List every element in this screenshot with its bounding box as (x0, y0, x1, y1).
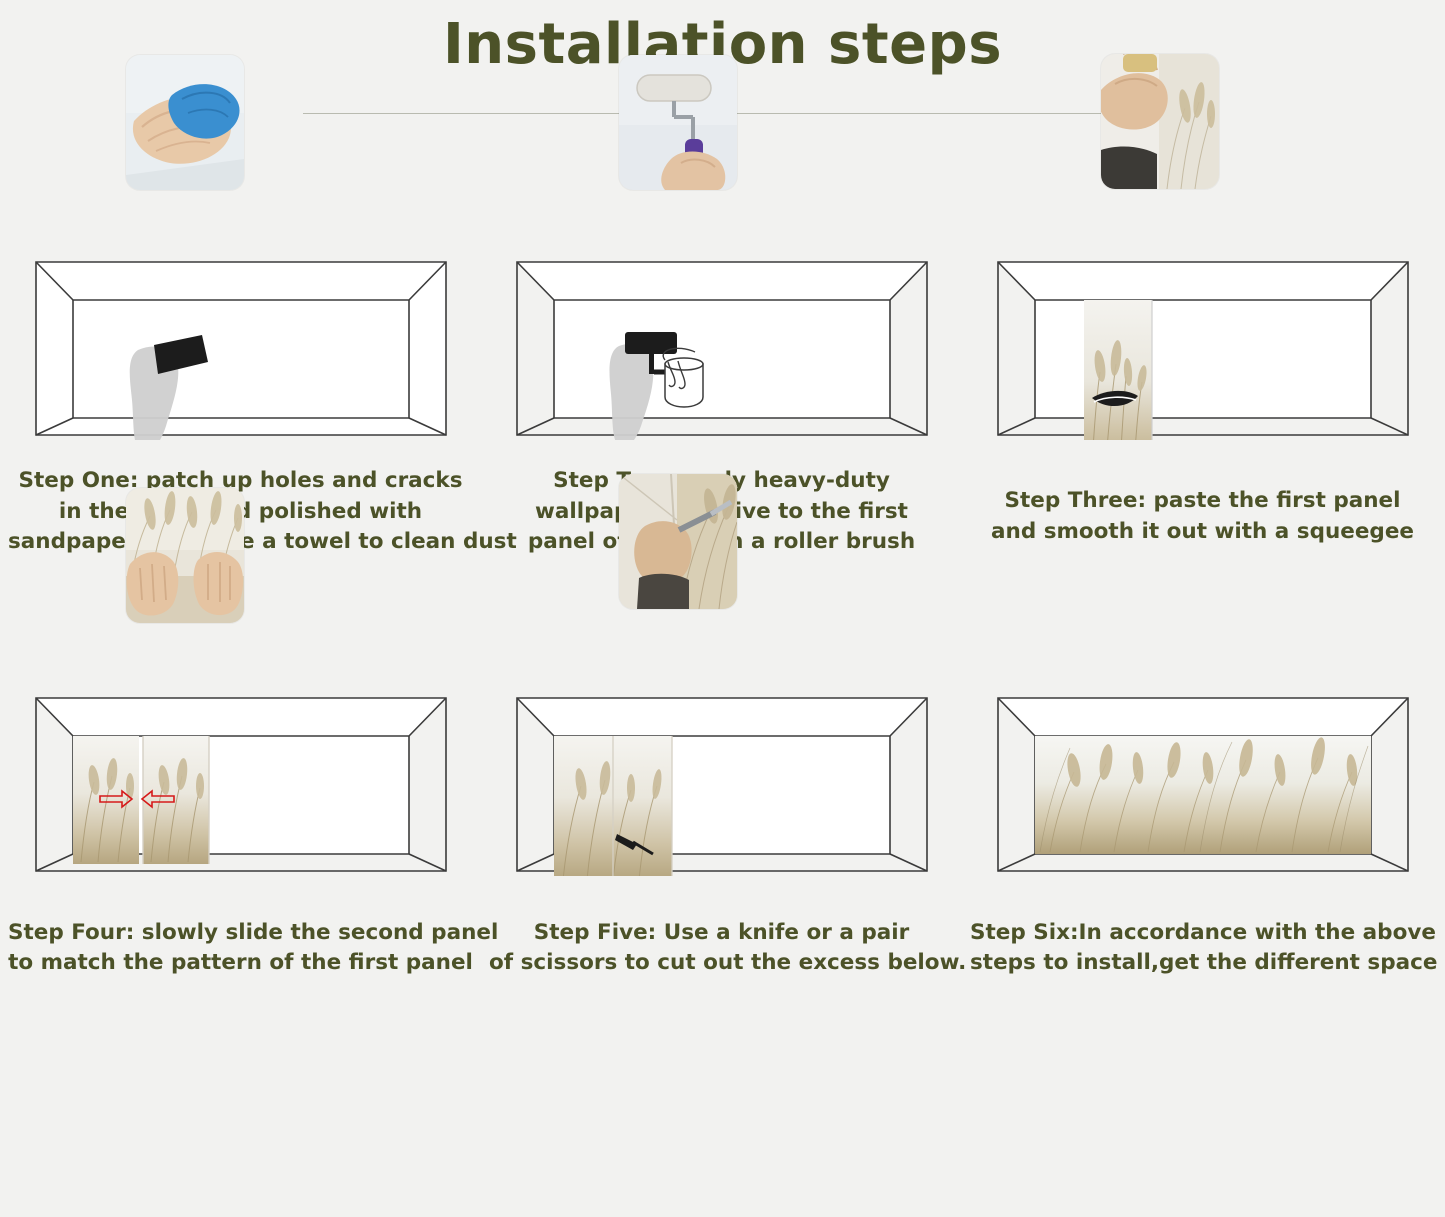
caption-line: Step Five: Use a knife or a pair (489, 918, 954, 949)
wall-smudge-shape (609, 344, 653, 440)
step-card-step-six: Step Six:In accordance with the above st… (962, 586, 1443, 979)
installation-steps-page: Installation steps (0, 0, 1445, 1217)
step-caption-step-six: Step Six:In accordance with the above st… (962, 918, 1443, 979)
room-illustration-step-two (507, 150, 937, 440)
caption-line: and smooth it out with a squeegee (970, 517, 1435, 548)
wallpaper-panels (554, 736, 672, 876)
wallpaper-panel-second (143, 736, 209, 864)
knife-trimming-edge-photo (619, 474, 737, 609)
wallpaper-panel (1084, 300, 1152, 440)
caption-line: to match the pattern of the first panel (8, 948, 473, 979)
room-illustration-step-six (988, 586, 1418, 876)
step-card-step-four: Step Four: slowly slide the second panel… (0, 586, 481, 979)
hand-pasting-panel-photo (1101, 54, 1219, 189)
step-caption-step-four: Step Four: slowly slide the second panel… (0, 918, 481, 979)
steps-grid: Step One: patch up holes and cracks in t… (0, 150, 1445, 979)
room-outline-svg (507, 586, 937, 876)
step-caption-step-five: Step Five: Use a knife or a pair of scis… (481, 918, 962, 979)
room-illustration-step-three (988, 150, 1418, 440)
caption-line: Step Six:In accordance with the above (970, 918, 1435, 949)
room-outline-svg (988, 150, 1418, 440)
caption-line: Step Four: slowly slide the second panel (8, 918, 473, 949)
hand-with-blue-cloth-photo (126, 55, 244, 190)
caption-line: steps to install,get the different space (970, 948, 1435, 979)
step-caption-step-three: Step Three: paste the first panel and sm… (962, 486, 1443, 547)
caption-line: of scissors to cut out the excess below. (489, 948, 954, 979)
paint-roller-on-wall-photo (619, 55, 737, 190)
steps-row-2: Step Four: slowly slide the second panel… (0, 586, 1445, 979)
caption-line: Step Three: paste the first panel (970, 486, 1435, 517)
room-illustration-step-one (26, 150, 456, 440)
step-card-step-five: Step Five: Use a knife or a pair of scis… (481, 586, 962, 979)
room-illustration-step-five (507, 586, 937, 876)
room-outline-svg (26, 586, 456, 876)
wallpaper-mural (1035, 736, 1371, 854)
room-illustration-step-four (26, 586, 456, 876)
step-card-step-three: Step Three: paste the first panel and sm… (962, 150, 1443, 558)
room-outline-svg (26, 150, 456, 440)
room-outline-svg (507, 150, 937, 440)
room-outline-svg (988, 586, 1418, 876)
two-hands-matching-pattern-photo (126, 488, 244, 623)
wallpaper-panel-first (73, 736, 139, 864)
